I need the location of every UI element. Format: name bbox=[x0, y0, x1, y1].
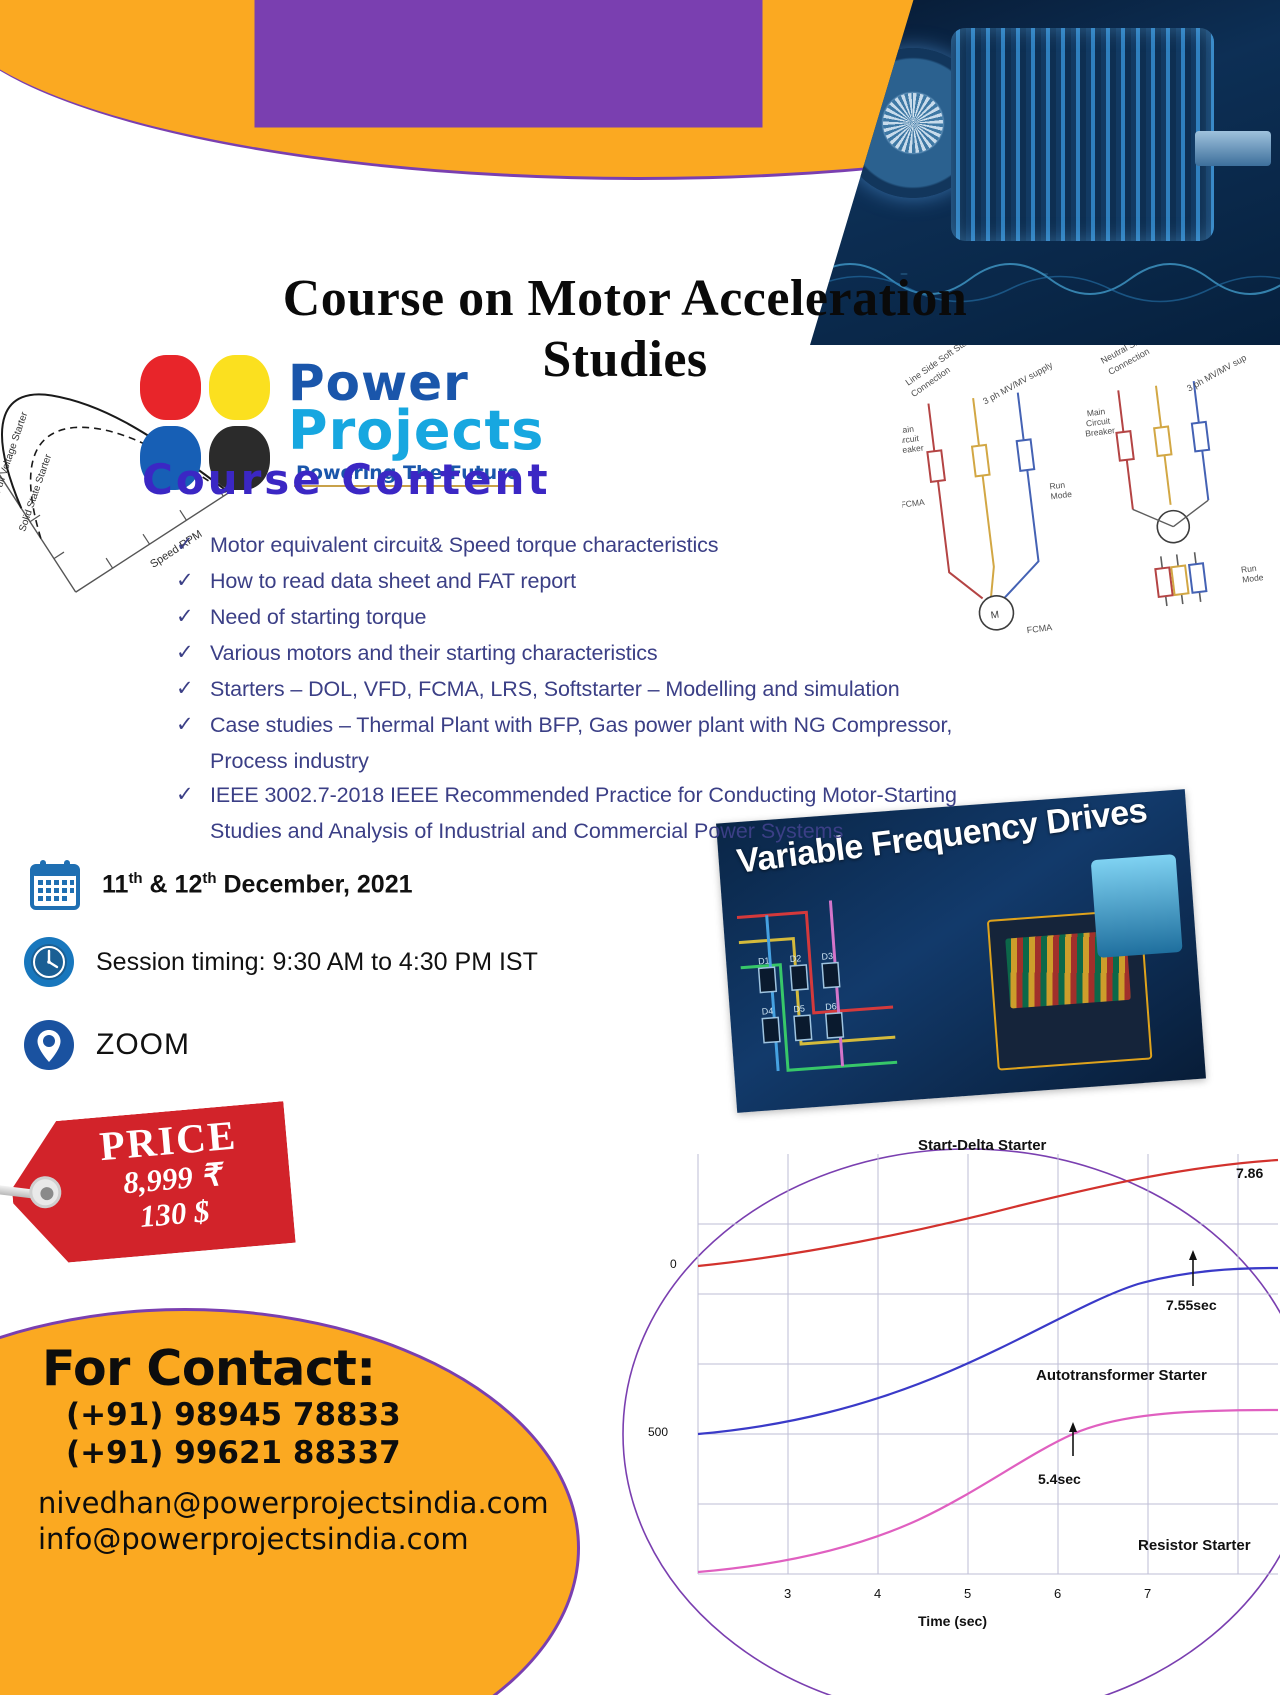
svg-text:5.4sec: 5.4sec bbox=[1038, 1471, 1081, 1487]
list-item-label: Case studies – Thermal Plant with BFP, G… bbox=[210, 708, 952, 742]
vfd-motor-graphic bbox=[1091, 854, 1183, 959]
list-item-label: Various motors and their starting charac… bbox=[210, 636, 658, 670]
svg-text:D4: D4 bbox=[762, 1006, 774, 1017]
check-icon: ✓ bbox=[176, 636, 210, 670]
list-item-label: Motor equivalent circuit& Speed torque c… bbox=[210, 528, 718, 562]
list-item: ✓ Starters – DOL, VFD, FCMA, LRS, Softst… bbox=[176, 672, 1056, 706]
svg-text:Start-Delta Starter: Start-Delta Starter bbox=[918, 1137, 1047, 1154]
list-item: ✓ How to read data sheet and FAT report bbox=[176, 564, 1056, 598]
svg-text:6: 6 bbox=[1054, 1586, 1061, 1601]
svg-text:Mode: Mode bbox=[1242, 572, 1265, 585]
logo-projects-text: Projects bbox=[288, 404, 544, 458]
svg-text:D6: D6 bbox=[825, 1001, 837, 1012]
check-icon: ✓ bbox=[176, 564, 210, 598]
contact-email-1[interactable]: nivedhan@powerprojectsindia.com bbox=[38, 1485, 584, 1521]
starter-comparison-chart: Start-Delta Starter 7.86 7.55sec 5.4sec … bbox=[618, 1134, 1280, 1695]
contact-title: For Contact: bbox=[42, 1340, 584, 1397]
svg-text:500: 500 bbox=[648, 1425, 668, 1439]
list-item: ✓ IEEE 3002.7-2018 IEEE Recommended Prac… bbox=[176, 778, 1056, 812]
list-item: ✓ Motor equivalent circuit& Speed torque… bbox=[176, 528, 1056, 562]
check-icon: ✓ bbox=[176, 778, 210, 812]
svg-text:Resistor Starter: Resistor Starter bbox=[1138, 1537, 1251, 1554]
price-tag-body: PRICE 8,999 ₹ 130 $ bbox=[62, 1110, 281, 1240]
svg-text:Autotransformer Starter: Autotransformer Starter bbox=[1036, 1367, 1207, 1384]
event-date-label: 11th & 12th December, 2021 bbox=[102, 870, 413, 899]
check-icon: ✓ bbox=[176, 528, 210, 562]
clock-icon bbox=[22, 935, 76, 989]
check-icon: ✓ bbox=[176, 672, 210, 706]
course-content-list: ✓ Motor equivalent circuit& Speed torque… bbox=[176, 528, 1056, 848]
svg-text:Full Voltage Starter: Full Voltage Starter bbox=[0, 410, 31, 495]
list-item: ✓ Case studies – Thermal Plant with BFP,… bbox=[176, 708, 1056, 742]
venue-label: ZOOM bbox=[96, 1028, 190, 1062]
svg-text:7: 7 bbox=[1144, 1586, 1151, 1601]
vfd-wiring-graphic: D1D2D3 D4D5D6 bbox=[736, 879, 1008, 1089]
check-icon: ✓ bbox=[176, 600, 210, 634]
course-content-heading: Course Content bbox=[142, 455, 551, 504]
check-icon: ✓ bbox=[176, 708, 210, 742]
svg-text:FCMA: FCMA bbox=[902, 497, 925, 510]
svg-text:Breaker: Breaker bbox=[902, 443, 924, 457]
svg-text:0: 0 bbox=[69, 601, 81, 602]
contact-phone-1[interactable]: (+91) 98945 78833 bbox=[66, 1397, 584, 1435]
list-item-label: IEEE 3002.7-2018 IEEE Recommended Practi… bbox=[210, 778, 957, 812]
svg-text:D1: D1 bbox=[758, 956, 770, 967]
list-item-label: Starters – DOL, VFD, FCMA, LRS, Softstar… bbox=[210, 672, 900, 706]
list-item-continuation: Process industry bbox=[176, 744, 1056, 778]
contact-section: For Contact: (+91) 98945 78833 (+91) 996… bbox=[24, 1340, 584, 1557]
list-item-label: Need of starting torque bbox=[210, 600, 426, 634]
motor-body-graphic bbox=[951, 28, 1214, 242]
svg-text:D3: D3 bbox=[821, 951, 833, 962]
motor-shaft-graphic bbox=[1195, 131, 1270, 166]
svg-text:D2: D2 bbox=[790, 954, 802, 965]
calendar-icon bbox=[28, 858, 82, 912]
poster-root: Power Projects Powering The Future bbox=[0, 0, 1280, 1695]
list-item: ✓ Need of starting torque bbox=[176, 600, 1056, 634]
session-timing-row: Session timing: 9:30 AM to 4:30 PM IST bbox=[22, 935, 538, 989]
list-item: ✓ Various motors and their starting char… bbox=[176, 636, 1056, 670]
svg-text:0: 0 bbox=[670, 1257, 677, 1271]
title-line-2: Studies bbox=[160, 329, 1090, 390]
page-title: Course on Motor Acceleration Studies bbox=[160, 268, 1090, 391]
session-timing-label: Session timing: 9:30 AM to 4:30 PM IST bbox=[96, 948, 538, 977]
svg-text:7.55sec: 7.55sec bbox=[1166, 1297, 1217, 1313]
svg-text:3 ph MV/MV sup: 3 ph MV/MV sup bbox=[1185, 352, 1248, 393]
list-item-label: How to read data sheet and FAT report bbox=[210, 564, 576, 598]
svg-text:3: 3 bbox=[784, 1586, 791, 1601]
svg-text:4: 4 bbox=[874, 1586, 881, 1601]
venue-row: ZOOM bbox=[22, 1018, 190, 1072]
location-pin-icon bbox=[22, 1018, 76, 1072]
svg-text:7.86: 7.86 bbox=[1236, 1165, 1263, 1181]
list-item-continuation: Studies and Analysis of Industrial and C… bbox=[176, 814, 1056, 848]
svg-text:5: 5 bbox=[964, 1586, 971, 1601]
title-line-1: Course on Motor Acceleration bbox=[160, 268, 1090, 329]
svg-text:Time (sec): Time (sec) bbox=[918, 1613, 987, 1629]
svg-text:D5: D5 bbox=[793, 1004, 805, 1015]
contact-phone-2[interactable]: (+91) 99621 88337 bbox=[66, 1435, 584, 1473]
price-tag: PRICE 8,999 ₹ 130 $ bbox=[6, 1101, 295, 1267]
event-date-row: 11th & 12th December, 2021 bbox=[28, 858, 413, 912]
svg-text:Mode: Mode bbox=[1050, 489, 1073, 502]
contact-email-2[interactable]: info@powerprojectsindia.com bbox=[38, 1521, 584, 1557]
